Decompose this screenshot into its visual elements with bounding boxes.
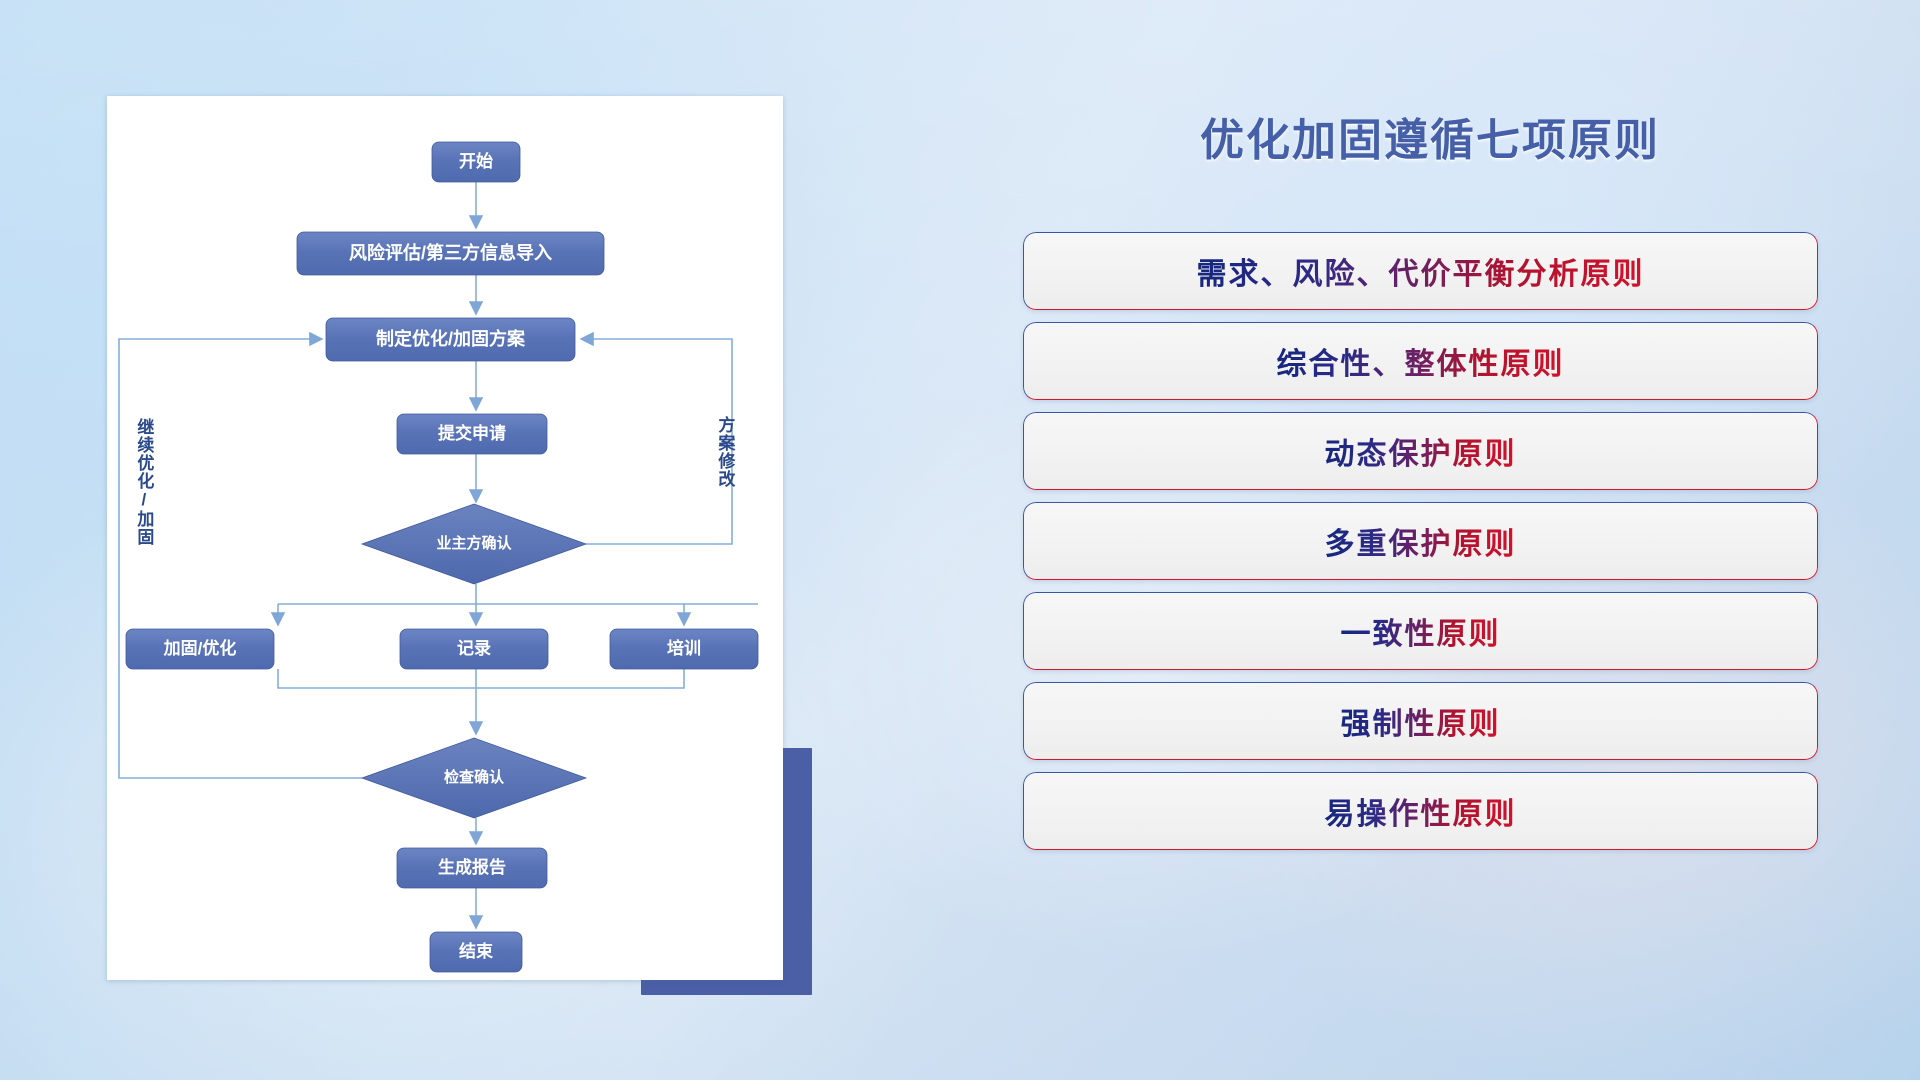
principle-label: 易操作性原则 xyxy=(1325,789,1517,833)
flow-node-owner[interactable] xyxy=(362,504,586,584)
flow-node-reinforce[interactable] xyxy=(126,629,274,669)
principle-label: 多重保护原则 xyxy=(1325,519,1517,563)
flowchart-diagram xyxy=(107,96,783,980)
flow-node-submit[interactable] xyxy=(397,414,547,454)
principle-card-5[interactable]: 一致性原则 xyxy=(1023,592,1818,670)
flow-node-check[interactable] xyxy=(362,738,586,818)
principle-card-7[interactable]: 易操作性原则 xyxy=(1023,772,1818,850)
principle-card-4[interactable]: 多重保护原则 xyxy=(1023,502,1818,580)
principle-label: 一致性原则 xyxy=(1341,609,1501,653)
flow-node-end[interactable] xyxy=(430,932,522,972)
principle-label: 强制性原则 xyxy=(1341,699,1501,743)
principle-label: 需求、风险、代价平衡分析原则 xyxy=(1197,249,1645,293)
principle-card-6[interactable]: 强制性原则 xyxy=(1023,682,1818,760)
principle-card-3[interactable]: 动态保护原则 xyxy=(1023,412,1818,490)
flow-side-label-right-loop: 方案修改 xyxy=(716,416,733,488)
flow-node-record[interactable] xyxy=(400,629,548,669)
principle-label: 动态保护原则 xyxy=(1325,429,1517,473)
flow-node-risk[interactable] xyxy=(297,232,604,275)
principles-section: 优化加固遵循七项原则 需求、风险、代价平衡分析原则 综合性、整体性原则 动态保护… xyxy=(1020,0,1840,1080)
flow-side-label-left-loop: 继续优化/加固 xyxy=(135,418,152,546)
principle-card-1[interactable]: 需求、风险、代价平衡分析原则 xyxy=(1023,232,1818,310)
page-title: 优化加固遵循七项原则 xyxy=(1020,104,1840,168)
principles-list: 需求、风险、代价平衡分析原则 综合性、整体性原则 动态保护原则 多重保护原则 一… xyxy=(1023,232,1818,862)
flow-node-report[interactable] xyxy=(397,848,547,888)
flowchart-panel: 开始风险评估/第三方信息导入制定优化/加固方案提交申请业主方确认加固/优化记录培… xyxy=(107,96,783,980)
principle-card-2[interactable]: 综合性、整体性原则 xyxy=(1023,322,1818,400)
flow-node-start[interactable] xyxy=(432,142,520,182)
flow-node-training[interactable] xyxy=(610,629,758,669)
principle-label: 综合性、整体性原则 xyxy=(1277,339,1565,383)
flow-node-plan[interactable] xyxy=(326,318,575,361)
